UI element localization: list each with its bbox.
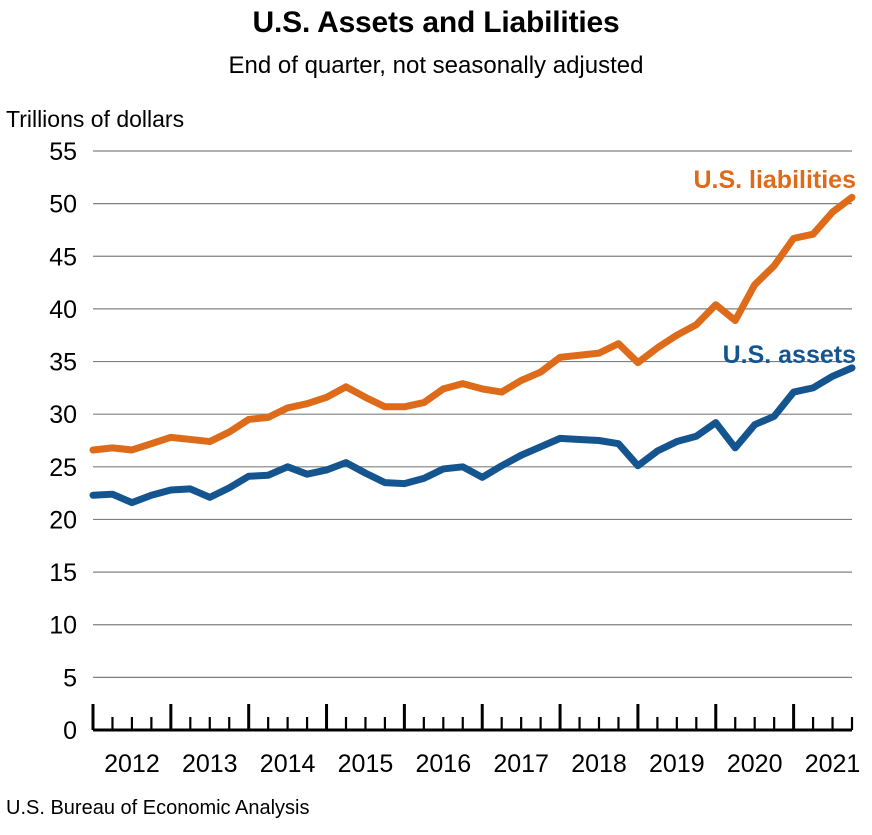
x-tick-label: 2020: [727, 750, 783, 778]
y-axis-tick-labels: 0510152025303540455055: [49, 138, 77, 745]
x-tick-label: 2016: [415, 750, 471, 778]
y-tick-label: 5: [63, 664, 77, 692]
x-axis: [93, 704, 852, 730]
y-tick-label: 45: [49, 243, 77, 271]
chart-source-note: U.S. Bureau of Economic Analysis: [6, 797, 309, 820]
y-tick-label: 50: [49, 191, 77, 219]
gridlines: [93, 151, 852, 677]
x-tick-label: 2018: [571, 750, 627, 778]
y-tick-label: 30: [49, 401, 77, 429]
y-tick-label: 35: [49, 349, 77, 377]
y-tick-label: 10: [49, 612, 77, 640]
series-label-assets: U.S. assets: [723, 341, 856, 369]
x-axis-tick-labels: 2012201320142015201620172018201920202021: [104, 750, 860, 778]
x-tick-label: 2021: [805, 750, 861, 778]
series-line: [93, 197, 852, 450]
x-tick-label: 2019: [649, 750, 705, 778]
x-tick-label: 2014: [260, 750, 316, 778]
y-tick-label: 0: [63, 717, 77, 745]
x-tick-label: 2015: [338, 750, 394, 778]
series-label-liabilities: U.S. liabilities: [693, 166, 856, 194]
chart-figure: U.S. Assets and Liabilities End of quart…: [0, 0, 872, 835]
x-tick-label: 2012: [104, 750, 160, 778]
y-tick-label: 15: [49, 559, 77, 587]
y-tick-label: 20: [49, 506, 77, 534]
x-tick-label: 2013: [182, 750, 238, 778]
y-tick-label: 55: [49, 138, 77, 166]
y-tick-label: 25: [49, 454, 77, 482]
y-tick-label: 40: [49, 296, 77, 324]
x-tick-label: 2017: [493, 750, 549, 778]
chart-plot-area: 0510152025303540455055 20122013201420152…: [0, 0, 872, 790]
